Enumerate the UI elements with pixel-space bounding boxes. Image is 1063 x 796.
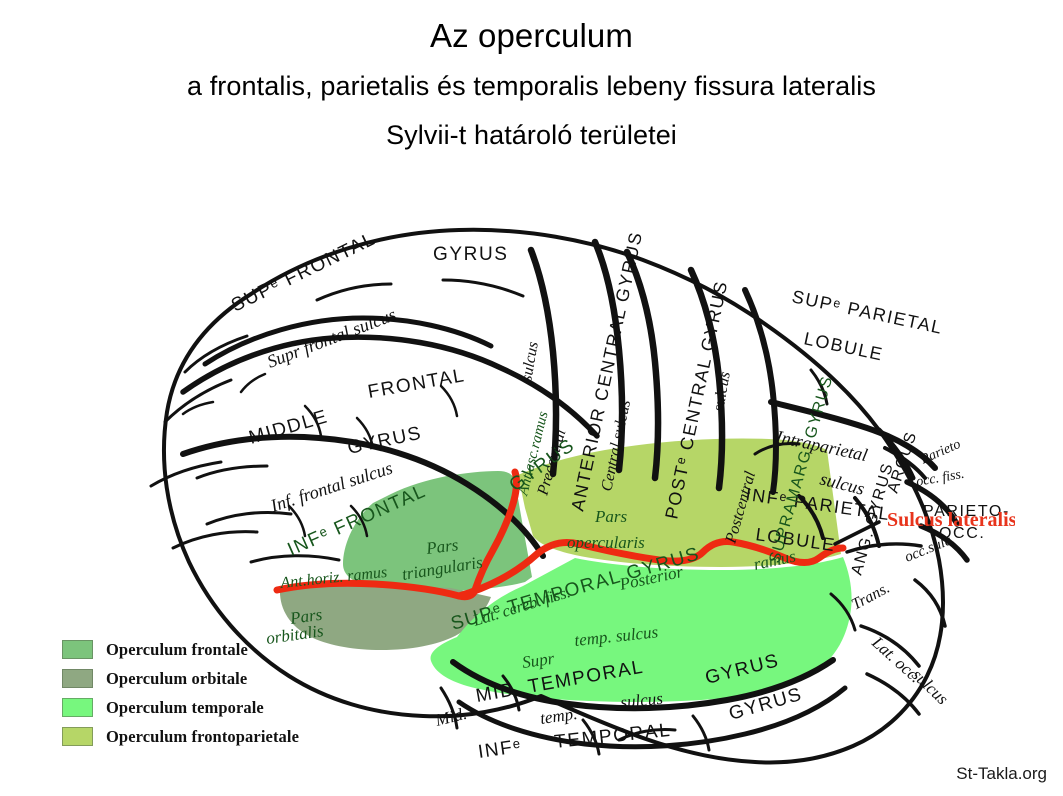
legend: Operculum frontale Operculum orbitale Op… bbox=[62, 636, 352, 752]
label-parieto-occ-fiss-b: occ. fiss. bbox=[915, 467, 965, 490]
legend-label-temporale: Operculum temporale bbox=[106, 698, 264, 718]
label-mid-temp-sulcus-b: temp. bbox=[539, 704, 579, 728]
legend-item-frontale: Operculum frontale bbox=[62, 636, 352, 663]
label-sup-frontal-gyrus: SUPᵉ FRONTAL bbox=[228, 228, 379, 316]
label-pars-opercularis-a: Pars bbox=[594, 507, 628, 526]
legend-label-frontoparietale: Operculum frontoparietale bbox=[106, 727, 299, 747]
legend-swatch-orbitale bbox=[62, 669, 93, 688]
page-title: Az operculum bbox=[0, 18, 1063, 55]
label-parieto-occ-fiss-a: Parieto bbox=[918, 437, 963, 468]
legend-swatch-temporale bbox=[62, 698, 93, 717]
legend-swatch-frontoparietale bbox=[62, 727, 93, 746]
label-sulcus-lateralis: Sulcus lateralis bbox=[887, 509, 1015, 531]
legend-swatch-frontale bbox=[62, 640, 93, 659]
label-mid-temp-sulcus-a: Mid. bbox=[432, 704, 468, 730]
legend-item-orbitale: Operculum orbitale bbox=[62, 665, 352, 692]
label-inf-temporal-gyrus-a: INFᵉ bbox=[477, 736, 524, 763]
label-precentral-sulcus-b: sulcus bbox=[518, 340, 542, 382]
label-sup-frontal-gyrus-2: GYRUS bbox=[433, 244, 509, 265]
legend-item-frontoparietale: Operculum frontoparietale bbox=[62, 723, 352, 750]
slide-canvas: Az operculum a frontalis, parietalis és … bbox=[0, 0, 1063, 796]
label-trans-occ-sulc-a: Trans. bbox=[849, 580, 893, 614]
legend-label-orbitale: Operculum orbitale bbox=[106, 669, 247, 689]
watermark: St-Takla.org bbox=[956, 764, 1047, 784]
label-pars-opercularis-b: opercularis bbox=[567, 533, 645, 552]
label-middle-frontal-c: GYRUS bbox=[346, 423, 424, 459]
label-middle-frontal-b: FRONTAL bbox=[366, 365, 467, 403]
label-sup-parietal-b: LOBULE bbox=[802, 328, 885, 364]
title-block: Az operculum a frontalis, parietalis és … bbox=[0, 18, 1063, 151]
label-trans-occ-sulc-b: occ.sulc. bbox=[903, 531, 958, 565]
label-postcentral-sulcus-b: sulcus bbox=[710, 370, 734, 412]
legend-item-temporale: Operculum temporale bbox=[62, 694, 352, 721]
legend-label-frontale: Operculum frontale bbox=[106, 640, 248, 660]
subtitle-line-1: a frontalis, parietalis és temporalis le… bbox=[0, 71, 1063, 102]
label-middle-frontal-a: MIDDLE bbox=[247, 406, 331, 449]
label-pars-triangularis-a: Pars bbox=[424, 535, 460, 558]
subtitle-line-2: Sylvii-t határoló területei bbox=[0, 120, 1063, 151]
